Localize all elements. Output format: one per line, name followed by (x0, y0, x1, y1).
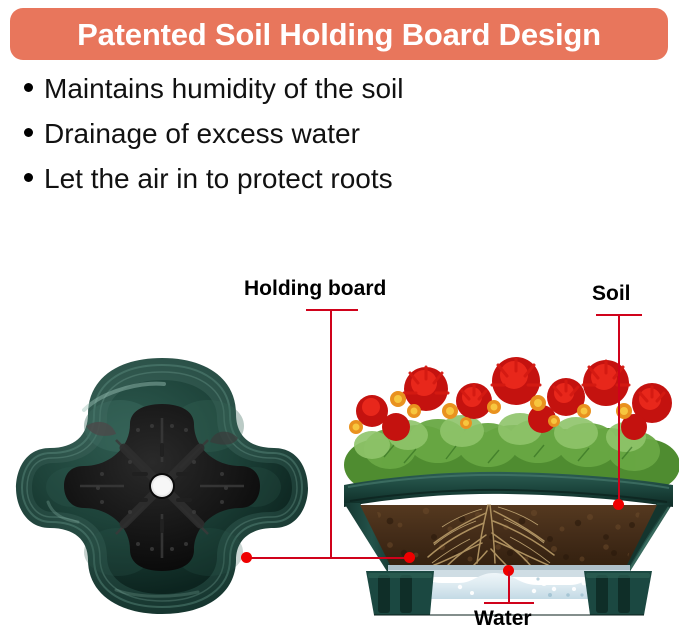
bullet-icon (24, 173, 33, 182)
bullet-icon (24, 128, 33, 137)
holding-board-marker-left (241, 552, 252, 563)
annotation-label-water: Water (474, 608, 532, 629)
water-leader-tick (484, 602, 534, 604)
annotation-label-soil: Soil (592, 283, 631, 304)
holding-board-leader-horizontal (250, 557, 412, 559)
header-banner: Patented Soil Holding Board Design (10, 8, 668, 60)
soil-marker (613, 499, 624, 510)
feature-list: Maintains humidity of the soil Drainage … (24, 74, 584, 209)
list-item: Maintains humidity of the soil (24, 74, 584, 119)
list-item: Drainage of excess water (24, 119, 584, 164)
feature-text: Let the air in to protect roots (44, 164, 393, 195)
holding-board-marker-right (404, 552, 415, 563)
planter-top-view-image (12, 352, 312, 620)
page-title: Patented Soil Holding Board Design (77, 19, 601, 50)
feature-text: Maintains humidity of the soil (44, 74, 404, 105)
holding-board-leader-tick (306, 309, 358, 311)
feature-text: Drainage of excess water (44, 119, 360, 150)
list-item: Let the air in to protect roots (24, 164, 584, 209)
holding-board-leader-vertical (330, 309, 332, 559)
annotation-label-holding-board: Holding board (244, 278, 386, 299)
bullet-icon (24, 83, 33, 92)
water-leader-vertical (508, 571, 510, 603)
product-illustration (0, 260, 679, 638)
flowers-and-foliage (344, 357, 679, 491)
soil-leader-vertical (618, 314, 620, 506)
